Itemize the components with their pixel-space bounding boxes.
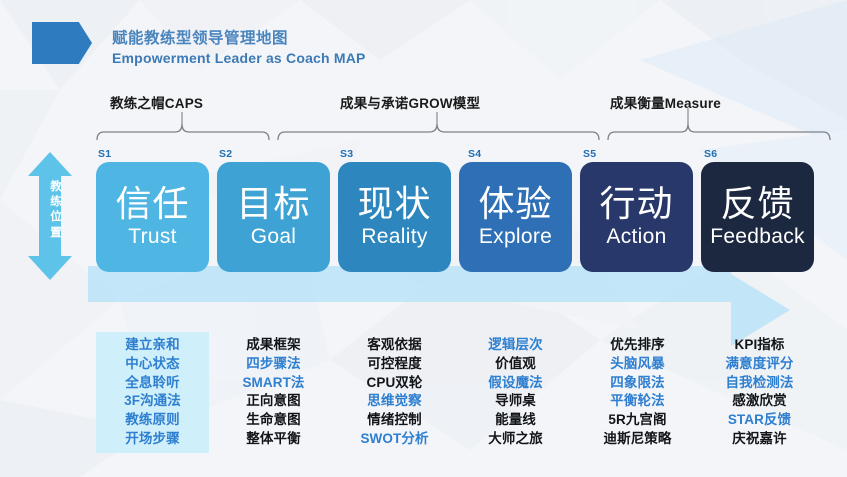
page-title-en: Empowerment Leader as Coach MAP bbox=[112, 50, 366, 66]
tool-column-s1: 建立亲和 中心状态 全息聆听 3F沟通法 教练原则 开场步骤 bbox=[96, 332, 209, 453]
tool-item: 成果框架 bbox=[246, 336, 300, 355]
stage-card-s5[interactable]: 行动 Action bbox=[580, 162, 693, 272]
stage-card-s2[interactable]: 目标 Goal bbox=[217, 162, 330, 272]
tool-item: 思维觉察 bbox=[367, 392, 421, 411]
tool-item: 感激欣赏 bbox=[732, 392, 786, 411]
tool-item: 教练原则 bbox=[125, 411, 179, 430]
stage-name-zh-s2: 目标 bbox=[236, 186, 310, 224]
tool-item: 平衡轮法 bbox=[610, 392, 664, 411]
tool-column-s3: 客观依据 可控程度 CPU双轮 思维觉察 情绪控制 SWOT分析 bbox=[338, 336, 451, 449]
stage-name-zh-s3: 现状 bbox=[357, 186, 431, 224]
stage-name-en-s6: Feedback bbox=[710, 225, 805, 248]
tool-item: 逻辑层次 bbox=[488, 336, 542, 355]
stage-name-zh-s1: 信任 bbox=[115, 186, 189, 224]
tool-item: 3F沟通法 bbox=[124, 392, 181, 411]
stage-name-en-s2: Goal bbox=[251, 225, 297, 248]
tool-item: 正向意图 bbox=[246, 392, 300, 411]
stage-code-s6: S6 bbox=[704, 148, 717, 160]
tool-item: 可控程度 bbox=[367, 355, 421, 374]
stage-name-zh-s6: 反馈 bbox=[720, 186, 794, 224]
stage-card-s4[interactable]: 体验 Explore bbox=[459, 162, 572, 272]
group-braces bbox=[0, 108, 847, 153]
tool-column-s2: 成果框架 四步骤法 SMART法 正向意图 生命意图 整体平衡 bbox=[217, 336, 330, 449]
tool-item: 迪斯尼策略 bbox=[604, 430, 672, 449]
tool-item: 自我检测法 bbox=[726, 374, 794, 393]
tool-item: 庆祝嘉许 bbox=[732, 430, 786, 449]
stage-name-zh-s5: 行动 bbox=[599, 186, 673, 224]
stage-name-en-s3: Reality bbox=[361, 225, 427, 248]
tool-item: 假设魔法 bbox=[488, 374, 542, 393]
tool-item: 客观依据 bbox=[367, 336, 421, 355]
tool-item: KPI指标 bbox=[734, 336, 784, 355]
stage-code-s1: S1 bbox=[98, 148, 111, 160]
tool-column-s4: 逻辑层次 价值观 假设魔法 导师桌 能量线 大师之旅 bbox=[459, 336, 572, 449]
stage-card-s6[interactable]: 反馈 Feedback bbox=[701, 162, 814, 272]
tool-item: 能量线 bbox=[495, 411, 536, 430]
stage-row: S1 S2 S3 S4 S5 S6 信任 Trust 目标 Goal 现状 Re… bbox=[0, 148, 847, 278]
tool-item: 四步骤法 bbox=[246, 355, 300, 374]
stage-code-s3: S3 bbox=[340, 148, 353, 160]
page-title-zh: 赋能教练型领导管理地图 bbox=[112, 26, 288, 48]
tool-item: SWOT分析 bbox=[360, 430, 428, 449]
coach-position-label: 教练位置 bbox=[48, 180, 64, 241]
tool-item: SMART法 bbox=[242, 374, 304, 393]
stage-name-en-s5: Action bbox=[606, 225, 666, 248]
tool-column-s5: 优先排序 头脑风暴 四象限法 平衡轮法 5R九宫阁 迪斯尼策略 bbox=[575, 336, 700, 449]
tool-item: 价值观 bbox=[495, 355, 536, 374]
tool-item: 头脑风暴 bbox=[610, 355, 664, 374]
stage-code-s2: S2 bbox=[219, 148, 232, 160]
tool-item: 导师桌 bbox=[495, 392, 536, 411]
tool-item: 四象限法 bbox=[610, 374, 664, 393]
tool-item: STAR反馈 bbox=[728, 411, 791, 430]
tool-item: 生命意图 bbox=[246, 411, 300, 430]
stage-name-en-s1: Trust bbox=[128, 225, 177, 248]
tool-item: 中心状态 bbox=[125, 355, 179, 374]
tool-item: 优先排序 bbox=[610, 336, 664, 355]
tool-item: 开场步骤 bbox=[125, 430, 179, 449]
tool-item: 全息聆听 bbox=[125, 374, 179, 393]
tool-item: 建立亲和 bbox=[125, 336, 179, 355]
tool-column-s6: KPI指标 满意度评分 自我检测法 感激欣赏 STAR反馈 庆祝嘉许 bbox=[697, 336, 822, 449]
stage-code-s5: S5 bbox=[583, 148, 596, 160]
tool-item: CPU双轮 bbox=[366, 374, 422, 393]
tool-item: 5R九宫阁 bbox=[608, 411, 666, 430]
stage-code-s4: S4 bbox=[468, 148, 481, 160]
stage-name-zh-s4: 体验 bbox=[478, 186, 552, 224]
stage-name-en-s4: Explore bbox=[479, 225, 552, 248]
tool-item: 满意度评分 bbox=[726, 355, 794, 374]
stage-card-s1[interactable]: 信任 Trust bbox=[96, 162, 209, 272]
tool-item: 大师之旅 bbox=[488, 430, 542, 449]
tool-item: 整体平衡 bbox=[246, 430, 300, 449]
stage-card-s3[interactable]: 现状 Reality bbox=[338, 162, 451, 272]
tool-item: 情绪控制 bbox=[367, 411, 421, 430]
